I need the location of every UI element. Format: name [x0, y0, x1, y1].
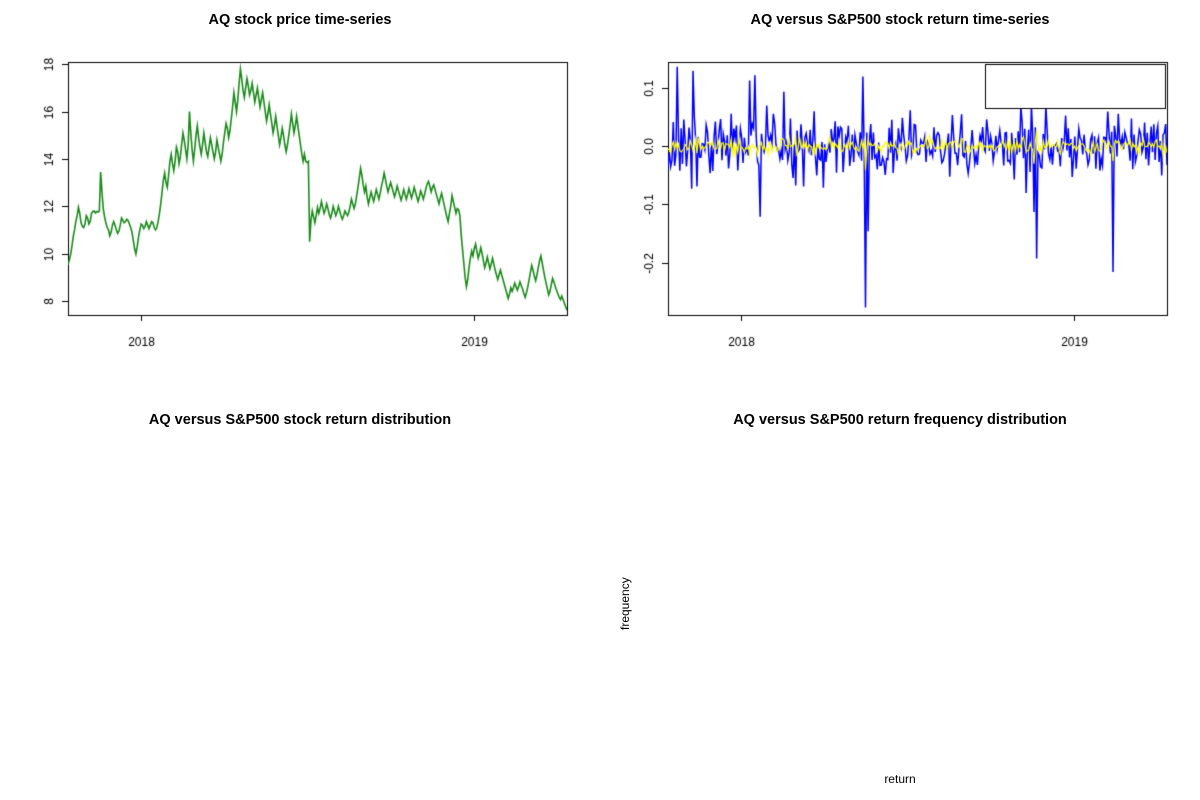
panel-return-distribution: AQ versus S&P500 stock return distributi…	[0, 400, 600, 800]
panel-return-time-series: AQ versus S&P500 stock return time-serie…	[600, 0, 1200, 400]
panel-return-frequency-histogram: AQ versus S&P500 return frequency distri…	[600, 400, 1200, 800]
price-time-series-plot	[0, 0, 600, 400]
return-distribution-plot	[0, 400, 600, 800]
panel-price-time-series: AQ stock price time-series	[0, 0, 600, 400]
return-frequency-histogram-plot	[600, 400, 1200, 800]
figure-canvas-grid: AQ stock price time-series AQ versus S&P…	[0, 0, 1200, 800]
return-time-series-plot	[600, 0, 1200, 400]
